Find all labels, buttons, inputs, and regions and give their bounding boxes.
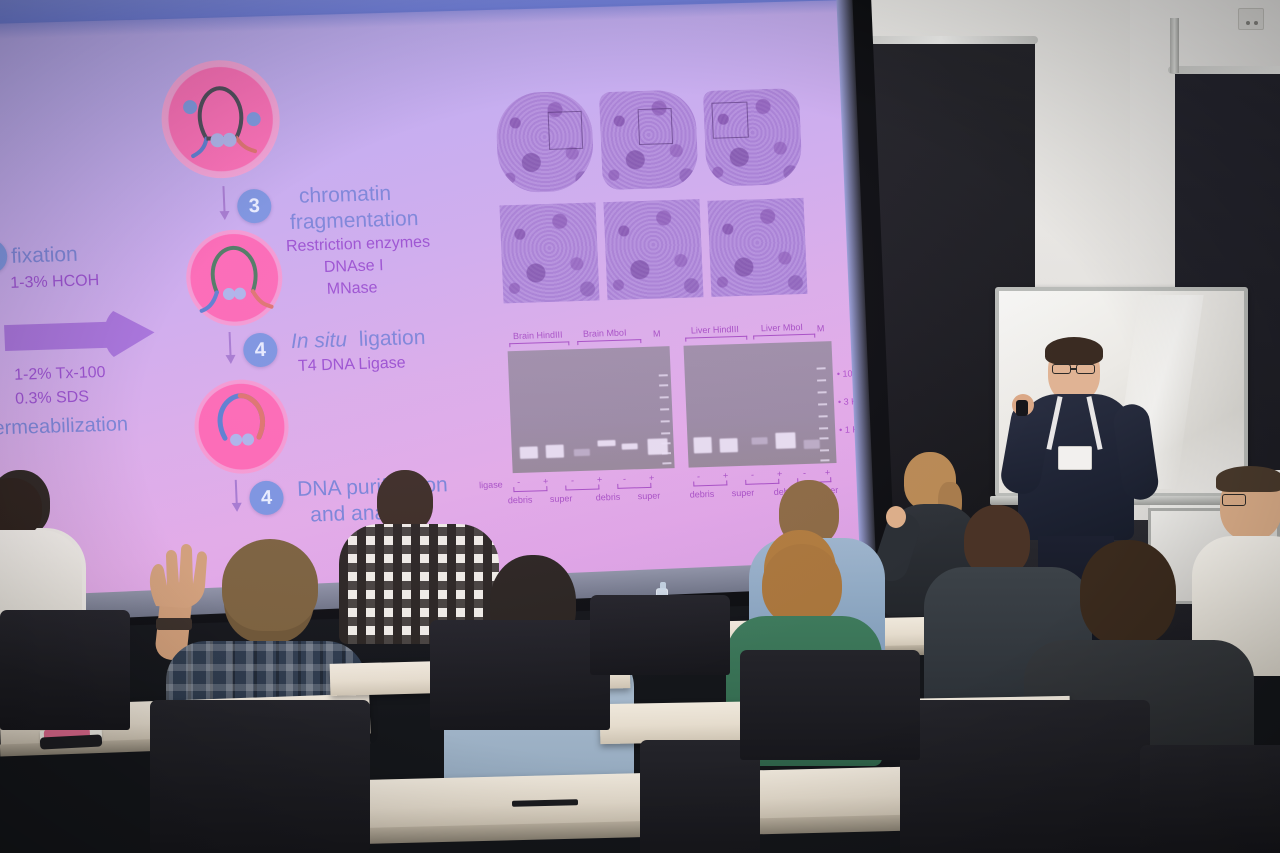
step-4a-heading-rest: ligation — [358, 326, 425, 351]
fraction-bracket-5 — [745, 479, 779, 485]
fraction-bracket-4 — [693, 480, 727, 486]
audience-glasses — [1222, 494, 1246, 506]
gel-band — [719, 438, 738, 453]
flow-arrow-1 — [222, 186, 225, 212]
chromatin-loop-graphic-1 — [159, 58, 282, 180]
ligated-loop-graphic — [193, 378, 291, 475]
sign-3: - — [571, 475, 574, 485]
gel-band — [804, 440, 820, 449]
sign-4: + — [597, 474, 603, 484]
step-4a-sub-1: T4 DNA Ligase — [298, 354, 406, 375]
step-4a-heading: In situ ligation — [291, 326, 426, 354]
micrograph-r1c3 — [703, 88, 803, 187]
audience-head — [377, 470, 433, 532]
step-3-sub-3: MNase — [326, 279, 377, 299]
ceiling-mount-bracket — [1170, 18, 1179, 73]
roi-box-3 — [711, 102, 748, 139]
gel-band — [520, 446, 538, 459]
glasses-bridge — [1071, 368, 1076, 370]
chair-8 — [740, 650, 920, 760]
presenter-remote — [1016, 400, 1028, 416]
sign-10: + — [777, 469, 783, 479]
chair-1 — [0, 610, 130, 730]
slide-surface: sed technique methodological overview 1 … — [0, 0, 875, 599]
sign-12: + — [825, 467, 831, 477]
name-badge — [1058, 446, 1092, 470]
gel-band — [622, 443, 638, 449]
gel-band — [775, 432, 796, 449]
glasses-left-lens — [1052, 364, 1071, 374]
micrograph-grid — [495, 84, 814, 309]
wristwatch — [156, 618, 192, 630]
chair-4 — [590, 595, 730, 675]
wall-socket — [1238, 8, 1264, 30]
step-number-4a: 4 — [243, 333, 278, 368]
fraction-label-3: debris — [596, 492, 621, 503]
cell-illustration-1 — [159, 58, 282, 180]
gel-band — [751, 437, 767, 444]
sign-7: - — [697, 471, 700, 481]
micrograph-r1c2 — [599, 89, 699, 190]
process-arrow-head — [103, 304, 155, 362]
gel-panel-left — [508, 346, 675, 473]
lecture-hall-scene: sed technique methodological overview 1 … — [0, 0, 1280, 853]
sign-9: - — [751, 470, 754, 480]
sign-11: - — [803, 468, 806, 478]
cell-illustration-3 — [193, 378, 291, 475]
detergent-line-1: 1-2% Tx-100 — [14, 364, 106, 385]
fraction-label-2: super — [550, 493, 573, 504]
fraction-bracket-3 — [617, 483, 651, 489]
micrograph-r2c2 — [603, 199, 703, 300]
gel-band — [574, 449, 590, 456]
fraction-label-5: debris — [690, 489, 715, 500]
audience-hair — [762, 544, 842, 626]
ladder-tick-3kb: • — [838, 397, 842, 407]
roi-box-1 — [548, 111, 584, 150]
gel-marker-label-right: M — [817, 323, 825, 333]
gel-ladder-left — [659, 372, 672, 470]
micrograph-r2c1 — [499, 202, 599, 303]
step-3-heading: chromatin — [298, 182, 391, 209]
step-number-1: 1 — [0, 239, 8, 274]
open-palm-icon — [136, 540, 226, 610]
audience-hair — [1216, 466, 1280, 492]
process-arrow — [3, 304, 155, 365]
gel-panel-right — [684, 341, 837, 468]
step-3-heading-2: fragmentation — [290, 207, 419, 235]
glasses-right-lens — [1076, 364, 1095, 374]
micrograph-r1c1 — [495, 91, 595, 194]
sign-2: + — [543, 476, 549, 486]
gel-band — [546, 445, 565, 459]
ceiling-light-strip-right — [1168, 66, 1280, 74]
gel-bracket-1 — [509, 341, 569, 347]
ladder-tick-10kb: • — [837, 369, 841, 379]
gel-bracket-3 — [685, 336, 747, 342]
step-1-sub-1: 1-3% HCOH — [10, 272, 100, 293]
audience-hand-on-chin — [886, 506, 906, 528]
fraction-bracket-2 — [565, 484, 599, 490]
gel-group-label-2: Brain MboI — [583, 328, 627, 339]
step-number-4b: 4 — [249, 480, 284, 515]
step-1-heading: fixation — [11, 243, 79, 269]
gel-row-label-ligase: ligase — [479, 479, 503, 490]
detergent-line-2: 0.3% SDS — [15, 388, 90, 408]
sign-1: - — [517, 477, 520, 487]
gel-ladder-right — [816, 365, 829, 465]
sign-6: + — [649, 473, 655, 483]
gel-bracket-2 — [577, 339, 641, 345]
roi-box-2 — [638, 108, 673, 145]
gel-group-label-1: Brain HindIII — [513, 330, 563, 342]
fraction-label-4: super — [638, 491, 661, 502]
gel-bracket-4 — [753, 334, 815, 340]
sign-5: - — [623, 474, 626, 484]
sign-8: + — [723, 470, 729, 480]
chromatin-loop-graphic-2 — [184, 228, 284, 327]
gel-group-label-4: Liver MboI — [761, 322, 803, 333]
flow-arrow-2 — [229, 332, 232, 356]
audience-hair — [222, 539, 318, 631]
chair-3 — [430, 620, 610, 730]
chair-2 — [150, 700, 370, 850]
fraction-label-6: super — [732, 488, 755, 499]
gel-marker-label-left: M — [653, 328, 661, 338]
micrograph-r2c3 — [707, 198, 807, 297]
step-4a-heading-italic: In situ — [291, 328, 348, 353]
flow-arrow-3 — [235, 480, 238, 504]
chair-6 — [1140, 745, 1280, 853]
step-3-sub-1: Restriction enzymes — [286, 234, 431, 257]
fraction-label-1: debris — [508, 495, 533, 506]
ladder-tick-1kb: • — [839, 425, 843, 435]
step-3-sub-2: DNAse I — [324, 257, 384, 277]
fraction-bracket-1 — [513, 486, 547, 492]
presenter-hair — [1045, 337, 1103, 365]
chair-5 — [900, 700, 1150, 853]
gel-band — [597, 440, 615, 447]
permeabilization-caption: permeabilization — [0, 413, 128, 441]
cell-illustration-2 — [184, 228, 284, 327]
step-number-3: 3 — [237, 189, 272, 224]
gel-group-label-3: Liver HindIII — [691, 324, 739, 336]
gel-band — [693, 437, 712, 454]
process-arrow-shaft — [4, 322, 110, 351]
audience-head — [1080, 540, 1176, 646]
